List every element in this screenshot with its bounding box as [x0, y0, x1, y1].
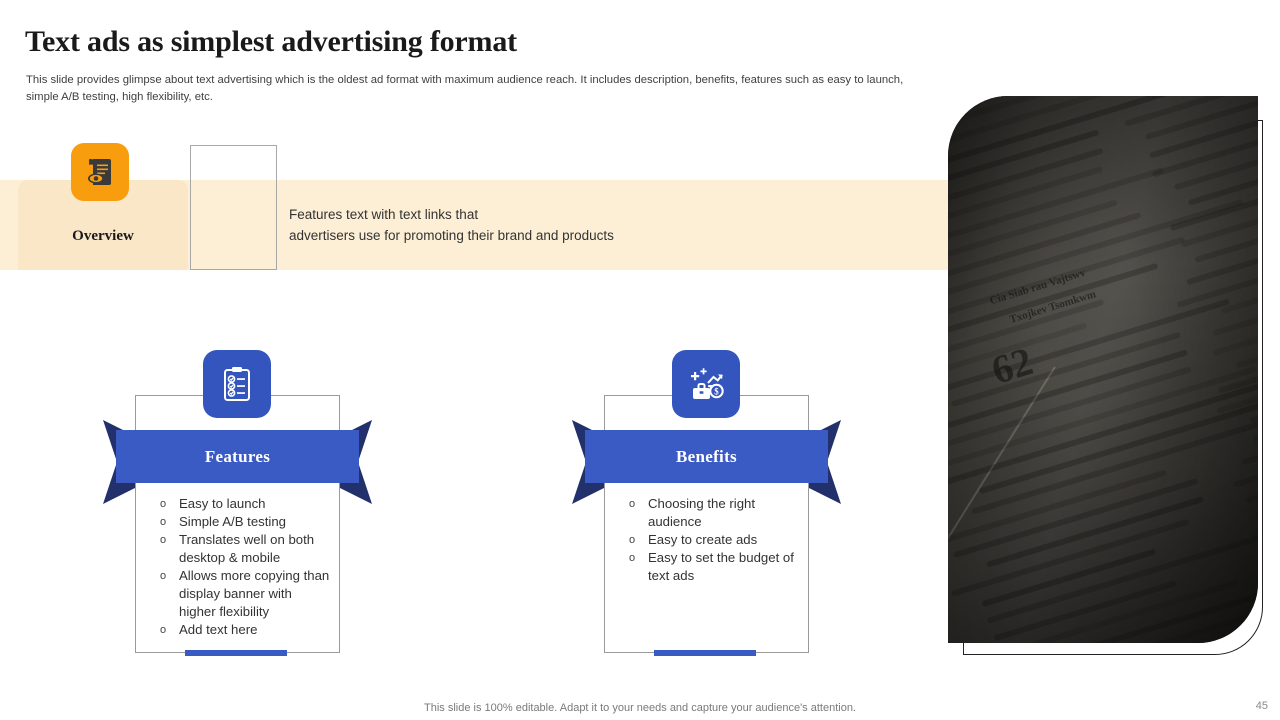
overview-text-line-1: Features text with text links that [289, 204, 889, 225]
briefcase-money-growth-icon: $ [672, 350, 740, 418]
features-ribbon: Features [103, 420, 372, 482]
svg-text:$: $ [714, 386, 719, 396]
benefits-ribbon: Benefits [572, 420, 841, 482]
photo-vignette [948, 96, 1258, 643]
list-item: Translates well on both desktop & mobile [155, 531, 330, 567]
footer-note: This slide is 100% editable. Adapt it to… [0, 702, 1280, 714]
list-item: Allows more copying than display banner … [155, 567, 330, 621]
list-item: Choosing the right audience [624, 495, 799, 531]
benefits-bottom-accent [654, 650, 756, 656]
overview-label: Overview [18, 228, 188, 245]
page-subtitle: This slide provides glimpse about text a… [26, 72, 921, 106]
list-item: Easy to create ads [624, 531, 799, 549]
benefits-card[interactable]: $ Benefits Choosing the right audience E… [604, 395, 809, 653]
features-title: Features [205, 447, 270, 467]
page-title: Text ads as simplest advertising format [25, 24, 517, 60]
list-item: Simple A/B testing [155, 513, 330, 531]
benefits-ribbon-band: Benefits [585, 430, 828, 483]
features-ribbon-band: Features [116, 430, 359, 483]
benefits-title: Benefits [676, 447, 737, 467]
list-item: Easy to launch [155, 495, 330, 513]
features-card[interactable]: Features Easy to launch Simple A/B testi… [135, 395, 340, 653]
clipboard-checklist-icon [203, 350, 271, 418]
overview-text-line-2: advertisers use for promoting their bran… [289, 225, 889, 246]
open-book-photo: Cia Siab rau Vajtswv Txojkev Tsomkwm 62 [948, 96, 1258, 643]
slide-root: Text ads as simplest advertising format … [0, 0, 1280, 720]
overview-description: Features text with text links that adver… [289, 204, 889, 246]
features-bottom-accent [185, 650, 287, 656]
decorative-outline-rectangle [190, 145, 277, 270]
list-item: Easy to set the budget of text ads [624, 549, 799, 585]
benefits-list: Choosing the right audience Easy to crea… [624, 495, 799, 585]
list-item: Add text here [155, 621, 330, 639]
features-list: Easy to launch Simple A/B testing Transl… [155, 495, 330, 639]
page-number: 45 [1256, 700, 1268, 712]
document-eye-icon [71, 143, 129, 201]
